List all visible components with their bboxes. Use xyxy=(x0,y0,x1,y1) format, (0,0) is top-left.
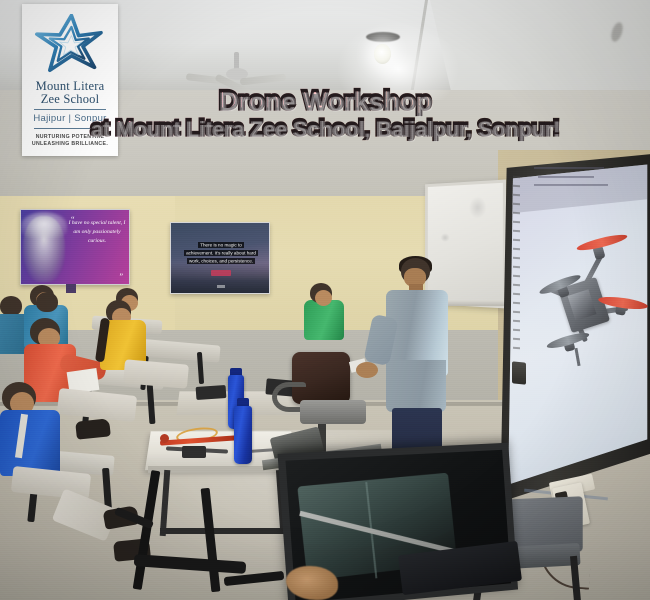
water-bottle xyxy=(234,406,252,464)
einstein-poster-stand xyxy=(66,284,76,293)
logo-name-line2: Zee School xyxy=(22,93,118,106)
drone-icon xyxy=(540,240,644,372)
logo-location: Hajipur | Sonpur xyxy=(22,113,118,124)
equipment-box xyxy=(196,385,227,400)
achievement-poster: There is no magic to achievement. It's r… xyxy=(170,222,270,294)
einstein-poster: “ I have no special talent, I am only pa… xyxy=(20,209,130,285)
logo-tagline-line1: NURTURING POTENTIAL xyxy=(22,134,118,141)
flyer-image: “ I have no special talent, I am only pa… xyxy=(0,0,650,600)
ceiling-fan-icon xyxy=(196,52,282,90)
toolbar-line xyxy=(538,176,594,178)
einstein-quote-text: I have no special talent, I am only pass… xyxy=(67,219,127,246)
logo-name-line1: Mount Litera xyxy=(22,80,118,93)
achievement-quote-text: There is no magic to achievement. It's r… xyxy=(178,241,264,266)
logo-tagline-line2: UNLEASHING BRILLIANCE. xyxy=(22,141,118,148)
school-logo-card: Mount Litera Zee School Hajipur | Sonpur… xyxy=(22,4,118,156)
einstein-hair xyxy=(21,212,67,238)
screen-side-hinges xyxy=(513,176,521,376)
toolbar-line xyxy=(534,184,608,186)
star-icon xyxy=(33,14,107,76)
quote-line-3: work, choices, and persistence. xyxy=(187,258,255,264)
poster-badge xyxy=(211,270,231,276)
quote-line-2: achievement. It's really about hard xyxy=(184,250,258,256)
screen-side-cap xyxy=(512,361,526,384)
quote-line-1: There is no magic to xyxy=(198,242,244,248)
poster-footer-mark xyxy=(217,285,225,288)
toolbar-line xyxy=(534,167,604,169)
poster-forest-silhouette xyxy=(171,263,270,293)
foreground-chair-frame xyxy=(86,470,276,600)
projector-screen xyxy=(494,154,650,502)
presenter-hands xyxy=(356,362,378,378)
bulb-holder xyxy=(366,32,400,42)
logo-divider xyxy=(34,128,106,129)
poster-close-quote: ” xyxy=(119,272,123,281)
light-bulb-icon xyxy=(374,44,391,64)
logo-divider xyxy=(34,109,106,110)
